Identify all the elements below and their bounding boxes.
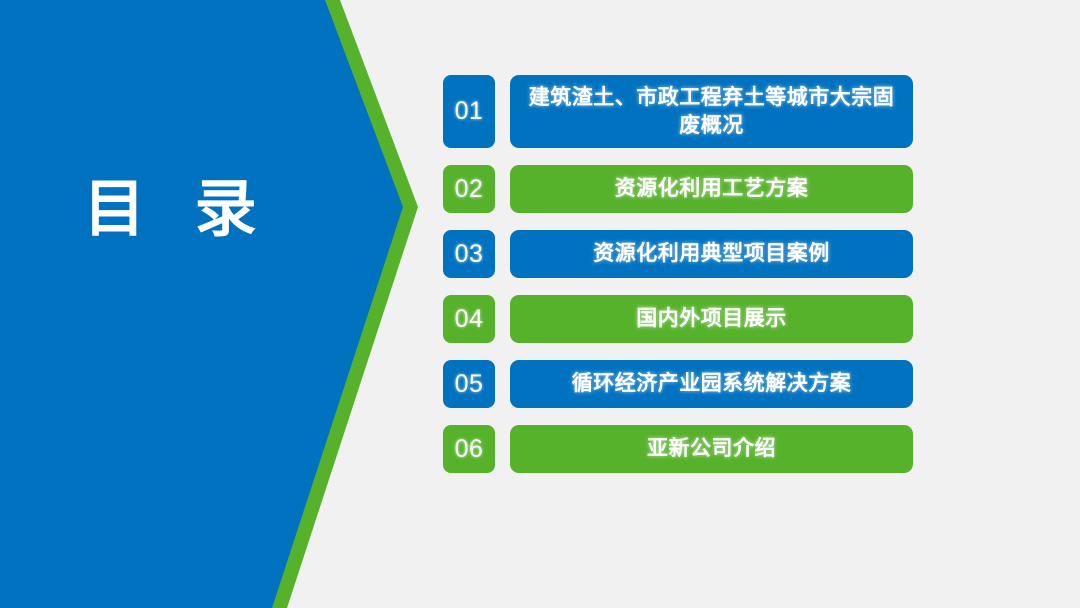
agenda-item-02[interactable]: 02 资源化利用工艺方案 bbox=[443, 165, 913, 213]
agenda-list: 01 建筑渣土、市政工程弃土等城市大宗固废概况 02 资源化利用工艺方案 03 … bbox=[443, 75, 913, 490]
agenda-item-05[interactable]: 05 循环经济产业园系统解决方案 bbox=[443, 360, 913, 408]
agenda-label-bar[interactable]: 亚新公司介绍 bbox=[510, 425, 913, 473]
agenda-item-label: 资源化利用工艺方案 bbox=[615, 175, 809, 202]
agenda-item-04[interactable]: 04 国内外项目展示 bbox=[443, 295, 913, 343]
agenda-label-bar[interactable]: 国内外项目展示 bbox=[510, 295, 913, 343]
slide-canvas: 目 录 01 建筑渣土、市政工程弃土等城市大宗固废概况 02 资源化利用工艺方案… bbox=[0, 0, 1080, 608]
agenda-number-badge: 04 bbox=[443, 295, 495, 343]
agenda-item-label: 建筑渣土、市政工程弃土等城市大宗固废概况 bbox=[524, 84, 899, 139]
agenda-number-badge: 05 bbox=[443, 360, 495, 408]
agenda-item-label: 资源化利用典型项目案例 bbox=[593, 240, 830, 267]
agenda-label-bar[interactable]: 资源化利用典型项目案例 bbox=[510, 230, 913, 278]
agenda-number-badge: 01 bbox=[443, 75, 495, 148]
agenda-number-badge: 03 bbox=[443, 230, 495, 278]
chevron-blue-body bbox=[0, 0, 403, 608]
agenda-item-label: 循环经济产业园系统解决方案 bbox=[572, 370, 852, 397]
agenda-item-03[interactable]: 03 资源化利用典型项目案例 bbox=[443, 230, 913, 278]
agenda-item-01[interactable]: 01 建筑渣土、市政工程弃土等城市大宗固废概况 bbox=[443, 75, 913, 148]
agenda-number-badge: 02 bbox=[443, 165, 495, 213]
agenda-label-bar[interactable]: 资源化利用工艺方案 bbox=[510, 165, 913, 213]
agenda-number-badge: 06 bbox=[443, 425, 495, 473]
agenda-item-06[interactable]: 06 亚新公司介绍 bbox=[443, 425, 913, 473]
agenda-item-label: 亚新公司介绍 bbox=[647, 435, 776, 462]
agenda-label-bar[interactable]: 循环经济产业园系统解决方案 bbox=[510, 360, 913, 408]
page-title: 目 录 bbox=[0, 175, 340, 244]
agenda-item-label: 国内外项目展示 bbox=[636, 305, 787, 332]
left-chevron-banner: 目 录 bbox=[0, 0, 430, 608]
agenda-label-bar[interactable]: 建筑渣土、市政工程弃土等城市大宗固废概况 bbox=[510, 75, 913, 148]
